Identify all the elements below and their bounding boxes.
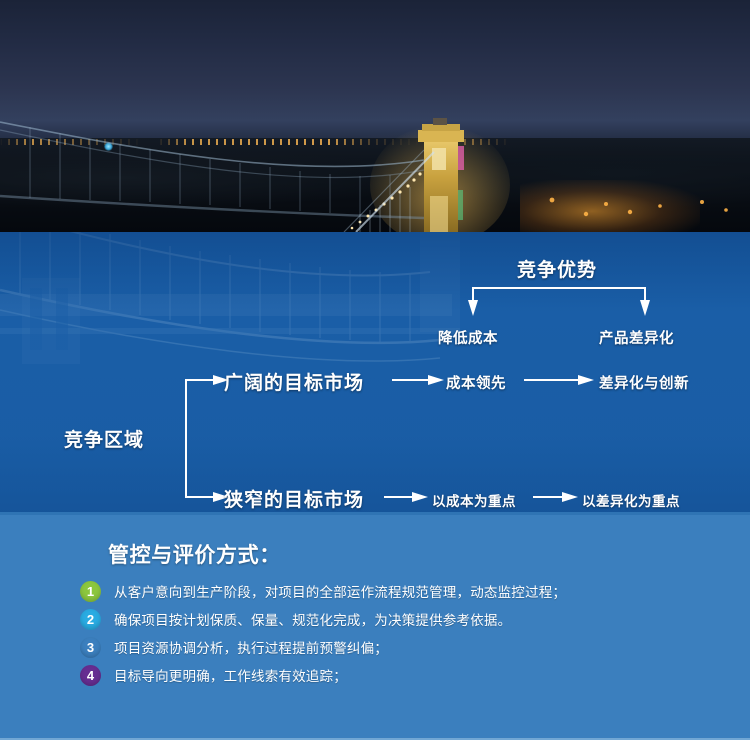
arrow-narrow-1	[412, 492, 428, 502]
arrow-down-left	[468, 300, 478, 316]
list-item: 3 项目资源协调分析，执行过程提前预警纠偏；	[80, 633, 740, 661]
list-item: 2 确保项目按计划保质、保量、规范化完成，为决策提供参考依据。	[80, 605, 740, 633]
list-item-text: 确保项目按计划保质、保量、规范化完成，为决策提供参考依据。	[114, 609, 511, 629]
strategy-differentiation: 差异化与创新	[599, 372, 689, 393]
list-item: 1 从客户意向到生产阶段，对项目的全部运作流程规范管理，动态监控过程；	[80, 577, 740, 605]
scope-narrow-label: 狭窄的目标市场	[224, 485, 364, 512]
scope-broad-label: 广阔的目标市场	[224, 368, 364, 395]
list-item-text: 目标导向更明确，工作线索有效追踪；	[114, 665, 347, 685]
advantage-label-right: 产品差异化	[599, 327, 674, 348]
control-evaluation-section: 管控与评价方式： 1 从客户意向到生产阶段，对项目的全部运作流程规范管理，动态监…	[0, 515, 750, 740]
list-item-text: 从客户意向到生产阶段，对项目的全部运作流程规范管理，动态监控过程；	[114, 581, 566, 601]
badge-number-2: 2	[80, 609, 101, 630]
strategy-differentiation-focus: 以差异化为重点	[582, 490, 680, 510]
arrow-down-right	[640, 300, 650, 316]
arrow-narrow-2	[562, 492, 578, 502]
numbered-list: 1 从客户意向到生产阶段，对项目的全部运作流程规范管理，动态监控过程； 2 确保…	[80, 577, 740, 689]
list-item-text: 项目资源协调分析，执行过程提前预警纠偏；	[114, 637, 388, 657]
competitive-scope-title: 竞争区域	[64, 425, 144, 452]
strategy-matrix-diagram: 竞争优势 降低成本	[0, 232, 750, 515]
advantage-label-left: 降低成本	[438, 327, 498, 348]
section-heading: 管控与评价方式：	[108, 539, 281, 569]
strategy-cost-leadership: 成本领先	[446, 372, 506, 393]
suspension-bridge-illustration	[0, 0, 750, 232]
badge-number-4: 4	[80, 665, 101, 686]
arrow-broad-1	[428, 375, 444, 385]
hero-photo-night-bridge	[0, 0, 750, 232]
list-item: 4 目标导向更明确，工作线索有效追踪；	[80, 661, 740, 689]
arrow-broad-2	[578, 375, 594, 385]
strategy-cost-focus: 以成本为重点	[432, 490, 516, 510]
badge-number-1: 1	[80, 581, 101, 602]
badge-number-3: 3	[80, 637, 101, 658]
slide-root: 竞争优势 降低成本	[0, 0, 750, 740]
